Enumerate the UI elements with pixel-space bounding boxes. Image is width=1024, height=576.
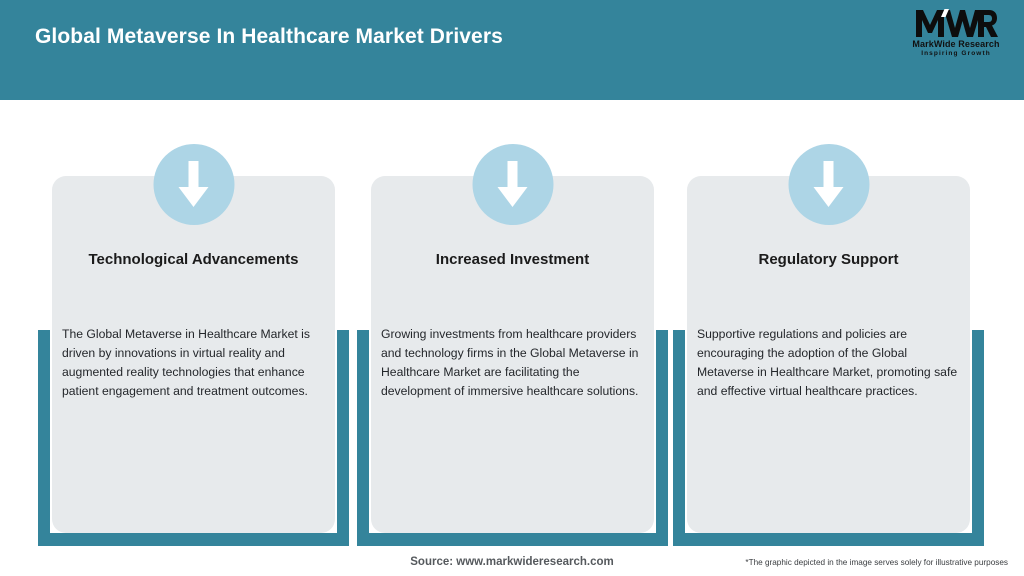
header-bar: Global Metaverse In Healthcare Market Dr… xyxy=(0,0,1024,100)
disclaimer-note: *The graphic depicted in the image serve… xyxy=(745,558,1008,567)
card-heading: Technological Advancements xyxy=(52,251,335,268)
bracket-left-bar xyxy=(673,330,685,546)
bracket-bottom-bar xyxy=(38,533,349,546)
brand-logo: MarkWide Research Inspiring Growth xyxy=(904,8,1008,60)
driver-card[interactable]: Increased Investment Growing investments… xyxy=(357,100,668,546)
card-heading: Regulatory Support xyxy=(687,251,970,268)
bracket-left-bar xyxy=(357,330,369,546)
mwr-monogram-icon xyxy=(914,8,998,38)
card-body-text: The Global Metaverse in Healthcare Marke… xyxy=(62,325,332,401)
down-arrow-icon xyxy=(472,144,553,225)
driver-card[interactable]: Regulatory Support Supportive regulation… xyxy=(673,100,984,546)
card-heading: Increased Investment xyxy=(371,251,654,268)
driver-card[interactable]: Technological Advancements The Global Me… xyxy=(38,100,349,546)
logo-company-name: MarkWide Research xyxy=(912,39,999,49)
bracket-bottom-bar xyxy=(357,533,668,546)
down-arrow-icon xyxy=(788,144,869,225)
logo-tagline: Inspiring Growth xyxy=(921,50,991,57)
card-body-text: Growing investments from healthcare prov… xyxy=(381,325,651,401)
drivers-card-group: Technological Advancements The Global Me… xyxy=(0,100,1024,540)
down-arrow-icon xyxy=(153,144,234,225)
page-title: Global Metaverse In Healthcare Market Dr… xyxy=(35,25,503,49)
card-body-text: Supportive regulations and policies are … xyxy=(697,325,967,401)
bracket-right-bar xyxy=(972,330,984,546)
bracket-bottom-bar xyxy=(673,533,984,546)
bracket-right-bar xyxy=(337,330,349,546)
bracket-right-bar xyxy=(656,330,668,546)
bracket-left-bar xyxy=(38,330,50,546)
